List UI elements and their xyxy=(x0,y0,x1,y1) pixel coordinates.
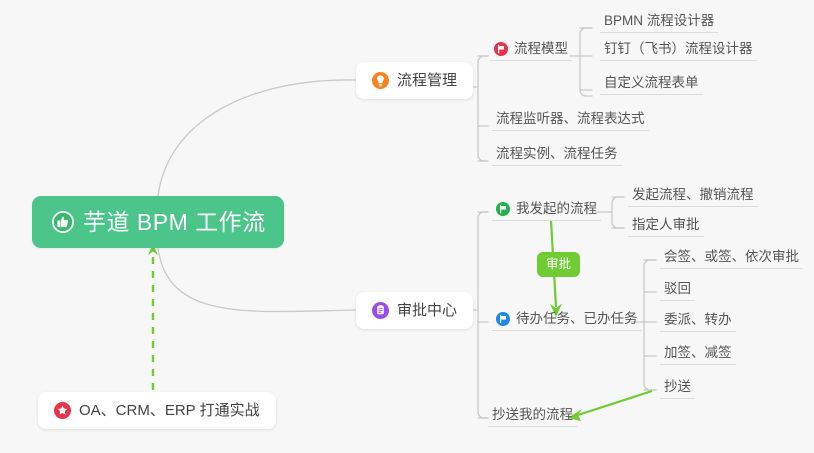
node-label-cc: 抄送 xyxy=(664,380,691,394)
node-start-cancel[interactable]: 发起流程、撤销流程 xyxy=(628,188,758,207)
node-label-listener-expression: 流程监听器、流程表达式 xyxy=(496,112,645,126)
branch-node-process-management[interactable]: 流程管理 xyxy=(356,62,473,99)
node-label-instance-task: 流程实例、流程任务 xyxy=(496,147,618,161)
link-root-to-process-management xyxy=(158,80,356,196)
node-my-initiated[interactable]: 我发起的流程 xyxy=(492,202,601,221)
star-icon xyxy=(54,402,71,419)
thumbs-up-icon xyxy=(52,211,74,233)
node-label-dingtalk-feishu-designer: 钉钉（飞书）流程设计器 xyxy=(604,42,753,56)
node-assignee-approval[interactable]: 指定人审批 xyxy=(628,218,704,237)
lightbulb-icon xyxy=(372,72,389,89)
legend-to-root-arrow xyxy=(148,244,158,390)
cc-relation-arrow xyxy=(568,391,652,421)
node-cc[interactable]: 抄送 xyxy=(660,380,695,399)
red-flag-icon xyxy=(494,42,508,56)
node-countersign[interactable]: 会签、或签、依次审批 xyxy=(660,250,803,269)
clipboard-icon xyxy=(372,302,389,319)
legend-label: OA、CRM、ERP 打通实战 xyxy=(79,403,260,418)
node-custom-process-form[interactable]: 自定义流程表单 xyxy=(600,76,703,95)
branch-label-process-management: 流程管理 xyxy=(397,73,457,88)
node-label-todo-done-tasks: 待办任务、已办任务 xyxy=(516,312,638,326)
node-add-remove-sign[interactable]: 加签、减签 xyxy=(660,346,736,365)
link-model-bracket xyxy=(580,28,592,96)
node-process-model[interactable]: 流程模型 xyxy=(490,42,572,61)
branch-node-approval-center[interactable]: 审批中心 xyxy=(356,292,473,329)
node-label-reject: 驳回 xyxy=(664,282,691,296)
link-pm-bracket xyxy=(478,56,488,161)
node-label-assignee-approval: 指定人审批 xyxy=(632,218,700,232)
node-cc-to-me[interactable]: 抄送我的流程 xyxy=(488,408,577,427)
node-label-add-remove-sign: 加签、减签 xyxy=(664,346,732,360)
node-instance-task[interactable]: 流程实例、流程任务 xyxy=(492,147,622,166)
node-dingtalk-feishu-designer[interactable]: 钉钉（飞书）流程设计器 xyxy=(600,42,757,61)
node-label-process-model: 流程模型 xyxy=(514,42,568,56)
node-reject[interactable]: 驳回 xyxy=(660,282,695,301)
node-delegate-transfer[interactable]: 委派、转办 xyxy=(660,313,736,332)
link-mi-bracket xyxy=(612,197,624,228)
link-td-bracket xyxy=(644,260,656,390)
node-label-my-initiated: 我发起的流程 xyxy=(516,202,597,216)
root-label: 芋道 BPM 工作流 xyxy=(83,211,266,234)
link-root-to-approval-center xyxy=(158,248,356,312)
green-flag-icon xyxy=(496,202,510,216)
link-ac-bracket xyxy=(478,212,488,418)
mindmap-canvas: 芋道 BPM 工作流 OA、CRM、ERP 打通实战 流程管理 xyxy=(0,0,814,453)
node-label-bpmn-designer: BPMN 流程设计器 xyxy=(604,14,714,28)
node-label-delegate-transfer: 委派、转办 xyxy=(664,313,732,327)
node-label-custom-process-form: 自定义流程表单 xyxy=(604,76,699,90)
relation-label-approval[interactable]: 审批 xyxy=(537,252,580,277)
root-node[interactable]: 芋道 BPM 工作流 xyxy=(32,196,284,248)
node-label-cc-to-me: 抄送我的流程 xyxy=(492,408,573,422)
node-label-start-cancel: 发起流程、撤销流程 xyxy=(632,188,754,202)
legend-node[interactable]: OA、CRM、ERP 打通实战 xyxy=(38,392,276,429)
node-bpmn-designer[interactable]: BPMN 流程设计器 xyxy=(600,14,718,33)
blue-flag-icon xyxy=(496,312,510,326)
branch-label-approval-center: 审批中心 xyxy=(397,303,457,318)
node-listener-expression[interactable]: 流程监听器、流程表达式 xyxy=(492,112,649,131)
node-label-countersign: 会签、或签、依次审批 xyxy=(664,250,799,264)
node-todo-done-tasks[interactable]: 待办任务、已办任务 xyxy=(492,312,642,331)
